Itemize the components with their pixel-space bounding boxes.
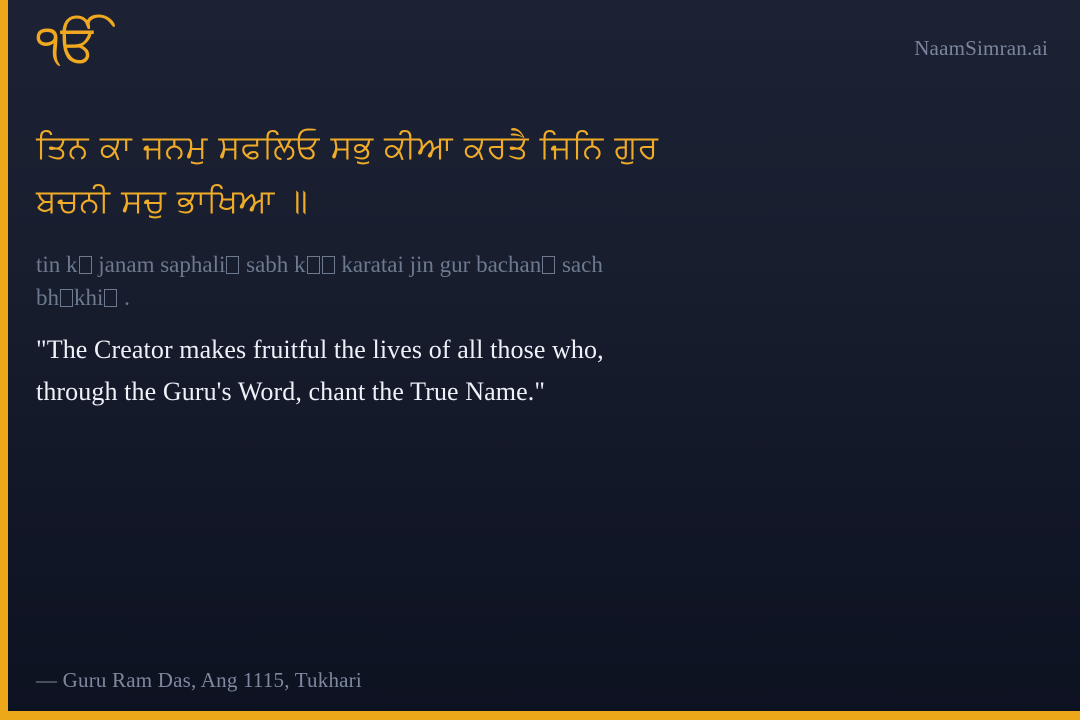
accent-bar-left (0, 0, 8, 720)
attribution-citation: — Guru Ram Das, Ang 1115, Tukhari (36, 668, 362, 693)
brand-wordmark: NaamSimran.ai (914, 36, 1048, 61)
missing-glyph-box (226, 256, 239, 274)
english-translation: "The Creator makes fruitful the lives of… (36, 329, 876, 413)
translation-line: "The Creator makes fruitful the lives of… (36, 329, 876, 371)
transliteration-line: bhkhi . (36, 281, 846, 314)
translation-line: through the Guru's Word, chant the True … (36, 371, 876, 413)
missing-glyph-box (79, 256, 92, 274)
missing-glyph-box (322, 256, 335, 274)
transliteration-line: tin k janam saphali sabh k karatai jin g… (36, 248, 846, 281)
missing-glyph-box (542, 256, 555, 274)
gurmukhi-verse: ਤਿਨ ਕਾ ਜਨਮੁ ਸਫਲਿਓ ਸਭੁ ਕੀਆ ਕਰਤੈ ਜਿਨਿ ਗੁਰ … (36, 120, 1036, 228)
missing-glyph-box (104, 289, 117, 307)
gurmukhi-line: ਤਿਨ ਕਾ ਜਨਮੁ ਸਫਲਿਓ ਸਭੁ ਕੀਆ ਕਰਤੈ ਜਿਨਿ ਗੁਰ (36, 120, 1036, 174)
accent-bar-bottom (0, 711, 1080, 720)
scripture-quote-card: NaamSimran.ai ੴ ਤਿਨ ਕਾ ਜਨਮੁ ਸਫਲਿਓ ਸਭੁ ਕੀ… (0, 0, 1080, 720)
missing-glyph-box (307, 256, 320, 274)
gurmukhi-line: ਬਚਨੀ ਸਚੁ ਭਾਖਿਆ ॥ (36, 174, 1036, 228)
transliteration-text: tin k janam saphali sabh k karatai jin g… (36, 248, 846, 314)
missing-glyph-box (60, 289, 73, 307)
ik-onkar-icon: ੴ (36, 18, 99, 70)
